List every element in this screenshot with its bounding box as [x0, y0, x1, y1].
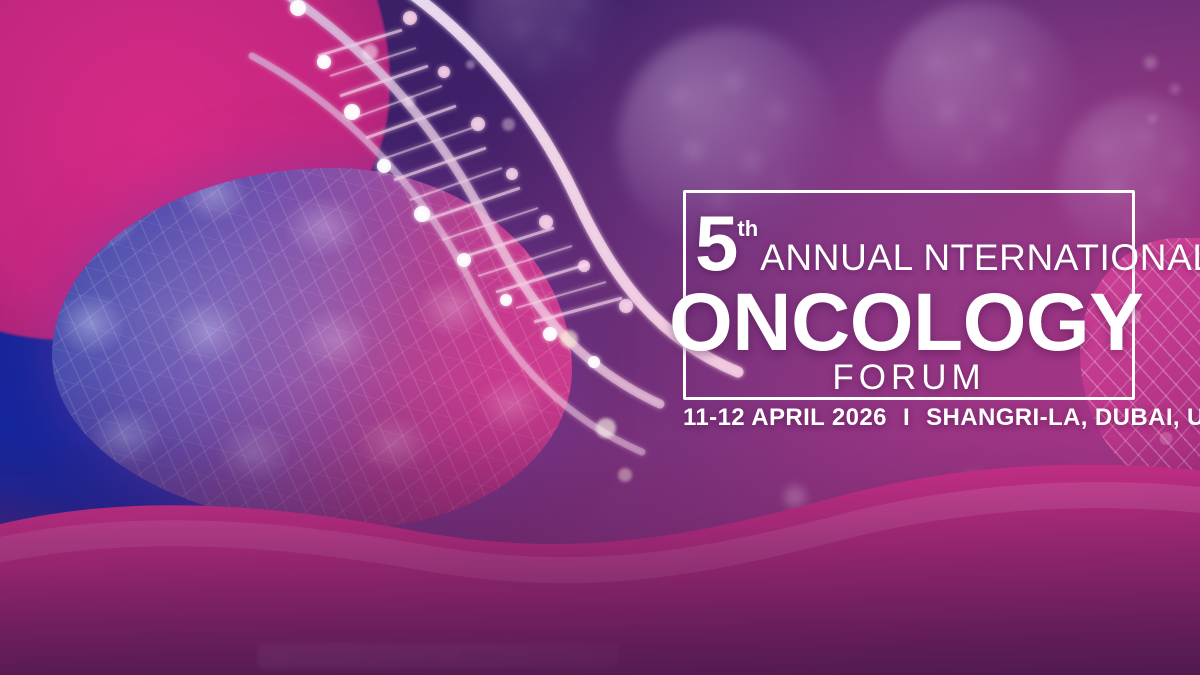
edition-line: 5 th ANNUAL NTERNATIONAL: [695, 212, 1200, 279]
conference-banner: 5 th ANNUAL NTERNATIONAL ONCOLOGY FORUM …: [0, 0, 1200, 675]
title-line-2: ONCOLOGY: [669, 282, 1143, 364]
edition-suffix: th: [737, 216, 758, 242]
event-details-line: 11-12 APRIL 2026 I SHANGRI-LA, DUBAI, UA…: [683, 404, 1200, 432]
edition-number: 5: [695, 212, 736, 276]
event-venue: SHANGRI-LA, DUBAI, UAE: [926, 404, 1200, 431]
details-separator: I: [903, 404, 910, 431]
title-line-3: FORUM: [683, 358, 1135, 398]
event-dates: 11-12 APRIL 2026: [683, 404, 887, 431]
title-line-1: ANNUAL NTERNATIONAL: [760, 237, 1200, 279]
title-lockup: 5 th ANNUAL NTERNATIONAL ONCOLOGY FORUM …: [0, 0, 1200, 675]
